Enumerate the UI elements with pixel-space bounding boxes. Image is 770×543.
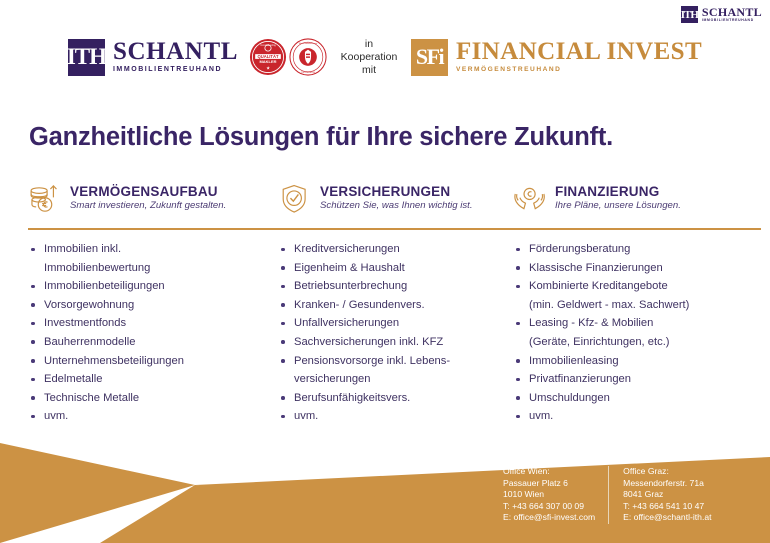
list-item-label-continued: Immobilienbewertung [44,259,278,278]
cooperation-line-2: Kooperation [341,51,398,63]
list-item: Unfallversicherungen [278,314,513,333]
schantl-logo-mark-icon: ITH [68,39,105,76]
list-item-label: uvm. [44,410,68,422]
svg-text:Immobilienring: Immobilienring [260,44,276,47]
brand-sfi-subtitle: VERMÖGENSTREUHAND [456,64,702,75]
cooperation-line-3: mit [362,64,376,76]
office-name: Office Graz: [623,466,711,478]
office-city: 8041 Graz [623,489,711,501]
column-header: VERSICHERUNGEN Schützen Sie, was Ihnen w… [278,183,513,221]
service-lists: Immobilien inkl.ImmobilienbewertungImmob… [28,240,763,426]
office-city: 1010 Wien [503,489,595,501]
list-item-label: Immobilienleasing [529,355,619,367]
list-item-label: Privatfinanzierungen [529,373,631,385]
svg-text:ÖSTERREICH: ÖSTERREICH [301,71,316,74]
service-column-headers: VERMÖGENSAUFBAU Smart investieren, Zukun… [28,183,758,221]
brand-sfi-text: FINANCIAL INVEST VERMÖGENSTREUHAND [456,40,702,75]
list-item-label: Immobilienbeteiligungen [44,280,165,292]
list-item-label: Berufsunfähigkeitsvers. [294,392,410,404]
corner-logo-text: SCHANTL IMMOBILIENTREUHAND [702,7,762,23]
flyer-page: ITH SCHANTL IMMOBILIENTREUHAND ITH SCHAN… [0,0,770,543]
list-item-label: Umschuldungen [529,392,610,404]
list-item-label: Edelmetalle [44,373,102,385]
svg-text:MAKLER: MAKLER [260,59,277,64]
cooperation-label: in Kooperation mit [338,38,400,77]
svg-text:★: ★ [266,65,270,70]
column-title-block: VERSICHERUNGEN Schützen Sie, was Ihnen w… [320,183,473,213]
list-item: Privatfinanzierungen [513,370,761,389]
column-subtitle: Ihre Pläne, unsere Lösungen. [555,199,681,213]
list-item-label: Betriebsunterbrechung [294,280,407,292]
shield-check-icon [278,183,312,215]
office-phone[interactable]: T: +43 664 541 10 47 [623,501,711,513]
list-finanzierung: FörderungsberatungKlassische Finanzierun… [513,240,761,426]
list-item: Immobilienleasing [513,352,761,371]
list-item-label-continued: (Geräte, Einrichtungen, etc.) [529,333,761,352]
column-title: FINANZIERUNG [555,184,681,199]
list-item: Vorsorgewohnung [28,296,278,315]
cooperation-line-1: in [365,38,373,50]
column-finanzierung: FINANZIERUNG Ihre Pläne, unsere Lösungen… [513,183,758,221]
list-versicherungen: KreditversicherungenEigenheim & Haushalt… [278,240,513,426]
list-item: uvm. [513,407,761,426]
corner-logo: ITH SCHANTL IMMOBILIENTREUHAND [681,6,762,23]
corner-logo-name: SCHANTL [702,7,762,18]
list-item: Kranken- / Gesundenvers. [278,296,513,315]
brand-schantl-name: SCHANTL [113,40,238,64]
list-item: Kreditversicherungen [278,240,513,259]
office-street: Messendorferstr. 71a [623,478,711,490]
header-logo-band: ITH SCHANTL IMMOBILIENTREUHAND Immobilie… [0,31,770,83]
column-title: VERSICHERUNGEN [320,184,473,199]
gold-divider-rule [28,228,761,230]
list-item-label: Eigenheim & Haushalt [294,262,405,274]
list-item: Technische Metalle [28,389,278,408]
office-email[interactable]: E: office@sfi-invest.com [503,512,595,524]
office-email[interactable]: E: office@schantl-ith.at [623,512,711,524]
list-item: Sachversicherungen inkl. KFZ [278,333,513,352]
list-item: Kombinierte Kreditangebote(min. Geldwert… [513,277,761,314]
column-header: VERMÖGENSAUFBAU Smart investieren, Zukun… [28,183,278,221]
brand-sfi-name: FINANCIAL INVEST [456,40,702,64]
brand-financial-invest: SFi FINANCIAL INVEST VERMÖGENSTREUHAND [411,39,702,76]
column-header: FINANZIERUNG Ihre Pläne, unsere Lösungen… [513,183,758,221]
list-item-label-continued: versicherungen [294,370,513,389]
brand-schantl-text: SCHANTL IMMOBILIENTREUHAND [113,40,238,75]
list-item-label: Kranken- / Gesundenvers. [294,299,425,311]
schantl-logo-mark-icon: ITH [681,6,698,23]
list-item: Immobilienbeteiligungen [28,277,278,296]
column-vermoegensaufbau: VERMÖGENSAUFBAU Smart investieren, Zukun… [28,183,278,221]
list-item: Berufsunfähigkeitsvers. [278,389,513,408]
list-item-label: Bauherrenmodelle [44,336,135,348]
list-item-label: Leasing - Kfz- & Mobilien [529,317,653,329]
list-item: Leasing - Kfz- & Mobilien(Geräte, Einric… [513,314,761,351]
list-item: Betriebsunterbrechung [278,277,513,296]
column-subtitle: Schützen Sie, was Ihnen wichtig ist. [320,199,473,213]
column-title-block: VERMÖGENSAUFBAU Smart investieren, Zukun… [70,183,226,213]
list-item: Umschuldungen [513,389,761,408]
corner-logo-subtitle: IMMOBILIENTREUHAND [702,18,762,23]
list-item: uvm. [278,407,513,426]
list-item-label: Pensionsvorsorge inkl. Lebens- [294,355,450,367]
list-item-label: uvm. [294,410,318,422]
office-wien: Office Wien: Passauer Platz 6 1010 Wien … [503,466,608,524]
office-graz: Office Graz: Messendorferstr. 71a 8041 G… [608,466,711,524]
brand-schantl-subtitle: IMMOBILIENTREUHAND [113,64,238,75]
list-item: Klassische Finanzierungen [513,259,761,278]
list-item-label: Kombinierte Kreditangebote [529,280,668,292]
column-title-block: FINANZIERUNG Ihre Pläne, unsere Lösungen… [555,183,681,213]
certification-seals: Immobilienring QUALITÄT MAKLER ★ Wirtsch… [249,38,327,76]
list-item: Pensionsvorsorge inkl. Lebens-versicheru… [278,352,513,389]
list-item: uvm. [28,407,278,426]
office-street: Passauer Platz 6 [503,478,595,490]
office-phone[interactable]: T: +43 664 307 00 09 [503,501,595,513]
list-item: Unternehmensbeteiligungen [28,352,278,371]
list-item-label: Förderungsberatung [529,243,630,255]
austrian-eagle-seal-icon: Wirtschaftskammer ÖSTERREICH [289,38,327,76]
list-item-label-continued: (min. Geldwert - max. Sachwert) [529,296,761,315]
list-item: Bauherrenmodelle [28,333,278,352]
page-headline: Ganzheitliche Lösungen für Ihre sichere … [29,123,613,152]
sfi-logo-mark-icon: SFi [411,39,448,76]
list-item-label: Investmentfonds [44,317,126,329]
coins-euro-growth-icon [28,183,62,215]
list-item-label: Unternehmensbeteiligungen [44,355,184,367]
column-versicherungen: VERSICHERUNGEN Schützen Sie, was Ihnen w… [278,183,513,221]
list-item-label: Immobilien inkl. [44,243,121,255]
list-item-label: Technische Metalle [44,392,139,404]
office-name: Office Wien: [503,466,595,478]
list-item: Investmentfonds [28,314,278,333]
list-vermoegensaufbau: Immobilien inkl.ImmobilienbewertungImmob… [28,240,278,426]
hands-holding-coin-icon [513,183,547,215]
list-item-label: Klassische Finanzierungen [529,262,663,274]
list-item-label: Vorsorgewohnung [44,299,134,311]
list-item: Immobilien inkl.Immobilienbewertung [28,240,278,277]
svg-text:Wirtschaftskammer: Wirtschaftskammer [299,42,318,45]
brand-schantl: ITH SCHANTL IMMOBILIENTREUHAND [68,39,238,76]
list-item: Förderungsberatung [513,240,761,259]
qualitaets-makler-seal-icon: Immobilienring QUALITÄT MAKLER ★ [249,38,287,76]
column-subtitle: Smart investieren, Zukunft gestalten. [70,199,226,213]
list-item-label: Sachversicherungen inkl. KFZ [294,336,443,348]
list-item-label: uvm. [529,410,553,422]
list-item: Edelmetalle [28,370,278,389]
list-item-label: Kreditversicherungen [294,243,400,255]
column-title: VERMÖGENSAUFBAU [70,184,226,199]
footer-offices: Office Wien: Passauer Platz 6 1010 Wien … [503,466,712,524]
list-item-label: Unfallversicherungen [294,317,399,329]
list-item: Eigenheim & Haushalt [278,259,513,278]
